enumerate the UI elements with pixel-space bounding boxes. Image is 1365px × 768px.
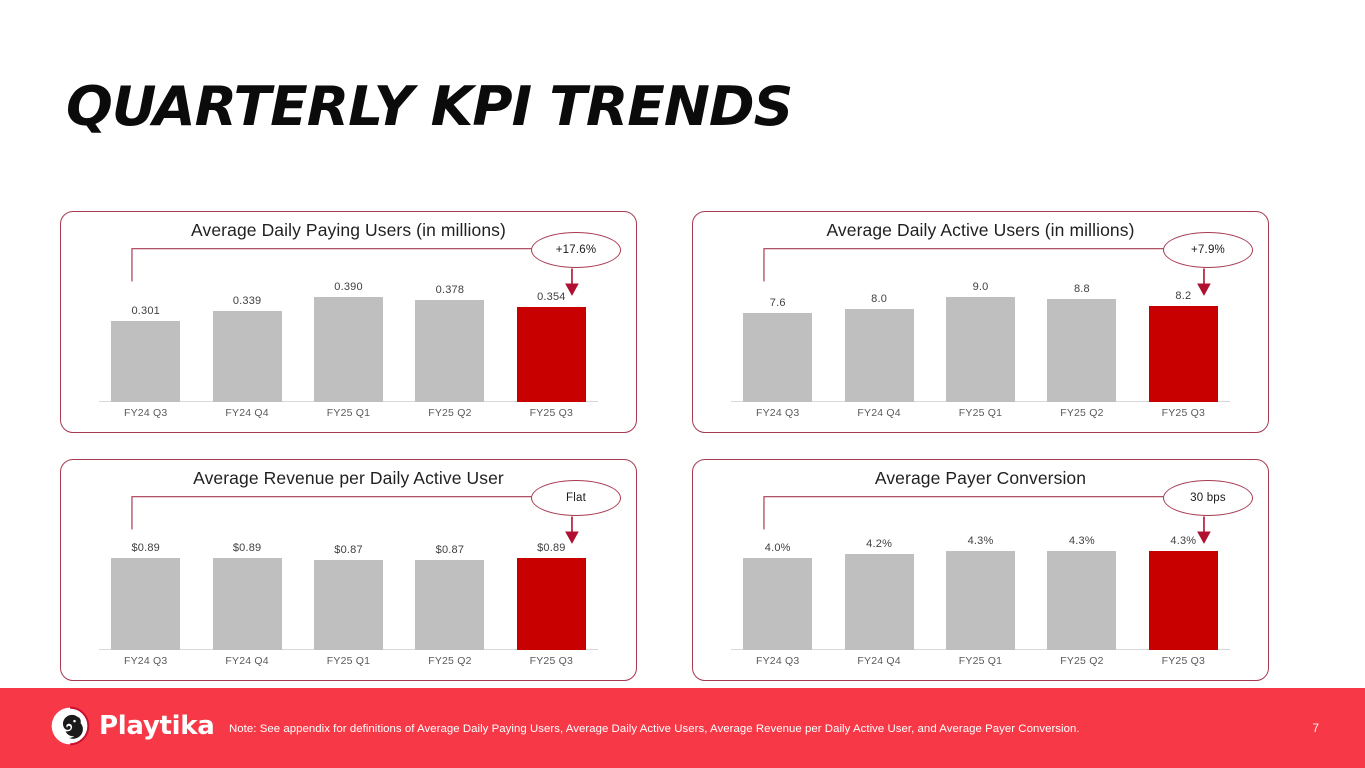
bar-value-label: 8.0 [871,293,887,305]
bar-item[interactable]: $0.89 [501,512,602,650]
bar-highlighted[interactable] [517,307,586,402]
bar-item[interactable]: $0.89 [95,512,196,650]
bar-item[interactable]: 4.0% [727,512,828,650]
plot-area: 4.0%4.2%4.3%4.3%4.3% [727,512,1234,650]
category-axis-labels: FY24 Q3FY24 Q4FY25 Q1FY25 Q2FY25 Q3 [95,407,602,423]
category-label: FY24 Q4 [196,655,297,671]
bar-item[interactable]: 8.2 [1133,264,1234,402]
bar-highlighted[interactable] [1149,551,1218,650]
category-label: FY25 Q2 [1031,407,1132,423]
bar-item[interactable]: 0.301 [95,264,196,402]
category-label: FY24 Q3 [95,407,196,423]
bar-item[interactable]: 0.354 [501,264,602,402]
bar-item[interactable]: 8.8 [1031,264,1132,402]
bar-value-label: 9.0 [973,281,989,293]
bar[interactable] [213,558,282,650]
bar-value-label: 0.390 [334,281,363,293]
bar-highlighted[interactable] [517,558,586,650]
bar[interactable] [845,309,914,402]
bar[interactable] [314,297,383,402]
bar-value-label: $0.89 [537,542,566,554]
callout-badge: +7.9% [1163,232,1253,268]
bar-item[interactable]: $0.89 [196,512,297,650]
category-label: FY24 Q3 [727,407,828,423]
category-label: FY25 Q1 [298,407,399,423]
plot-area: 0.3010.3390.3900.3780.354 [95,264,602,402]
category-label: FY24 Q4 [828,655,929,671]
category-label: FY25 Q3 [501,407,602,423]
bar[interactable] [845,554,914,650]
brand-logo: Playtika [50,706,214,746]
plot-area: $0.89$0.89$0.87$0.87$0.89 [95,512,602,650]
bar-value-label: 4.3% [968,535,994,547]
bar-value-label: 7.6 [770,297,786,309]
bar-value-label: $0.87 [334,544,363,556]
bar-item[interactable]: 0.390 [298,264,399,402]
bar-item[interactable]: 0.339 [196,264,297,402]
bar[interactable] [111,321,180,402]
category-label: FY25 Q2 [399,655,500,671]
callout-badge: 30 bps [1163,480,1253,516]
bar-value-label: $0.87 [436,544,465,556]
bar-item[interactable]: 4.2% [828,512,929,650]
bar-group: 0.3010.3390.3900.3780.354 [95,264,602,402]
bar-item[interactable]: $0.87 [399,512,500,650]
bar[interactable] [743,558,812,650]
chart-panel-avg-daily-paying-users: Average Daily Paying Users (in millions)… [60,211,637,433]
bar-highlighted[interactable] [1149,306,1218,402]
chart-panel-avg-revenue-per-dau: Average Revenue per Daily Active User$0.… [60,459,637,681]
bar-value-label: 0.378 [436,284,465,296]
bar-value-label: 0.354 [537,291,566,303]
footnote-text: Note: See appendix for definitions of Av… [229,722,1149,737]
plot-area: 7.68.09.08.88.2 [727,264,1234,402]
bar-item[interactable]: 8.0 [828,264,929,402]
category-label: FY25 Q2 [399,407,500,423]
playtika-panther-icon [50,706,90,746]
bar-value-label: 0.339 [233,295,262,307]
bar[interactable] [111,558,180,650]
bar-value-label: 8.2 [1175,290,1191,302]
category-label: FY25 Q1 [298,655,399,671]
bar-value-label: 4.3% [1170,535,1196,547]
bar[interactable] [415,560,484,650]
callout-badge: +17.6% [531,232,621,268]
bar[interactable] [213,311,282,402]
category-label: FY25 Q3 [1133,407,1234,423]
bar-value-label: $0.89 [233,542,262,554]
bar-value-label: 4.2% [866,538,892,550]
category-label: FY25 Q2 [1031,655,1132,671]
bar-item[interactable]: 4.3% [930,512,1031,650]
bar-group: 7.68.09.08.88.2 [727,264,1234,402]
category-label: FY25 Q3 [1133,655,1234,671]
page-title: QUARTERLY KPI TRENDS [66,80,792,134]
bar-value-label: 4.0% [765,542,791,554]
brand-wordmark: Playtika [99,713,214,739]
callout-badge: Flat [531,480,621,516]
bar-group: $0.89$0.89$0.87$0.87$0.89 [95,512,602,650]
bar[interactable] [1047,551,1116,650]
category-label: FY24 Q3 [727,655,828,671]
bar[interactable] [314,560,383,650]
bar[interactable] [415,300,484,402]
chart-panel-avg-daily-active-users: Average Daily Active Users (in millions)… [692,211,1269,433]
bar-group: 4.0%4.2%4.3%4.3%4.3% [727,512,1234,650]
category-axis-labels: FY24 Q3FY24 Q4FY25 Q1FY25 Q2FY25 Q3 [727,407,1234,423]
category-label: FY25 Q3 [501,655,602,671]
bar-item[interactable]: 0.378 [399,264,500,402]
bar[interactable] [946,551,1015,650]
category-label: FY25 Q1 [930,407,1031,423]
bar-item[interactable]: 9.0 [930,264,1031,402]
chart-panel-avg-payer-conversion: Average Payer Conversion4.0%4.2%4.3%4.3%… [692,459,1269,681]
category-label: FY24 Q3 [95,655,196,671]
category-label: FY24 Q4 [196,407,297,423]
bar[interactable] [1047,299,1116,402]
bar-item[interactable]: 4.3% [1031,512,1132,650]
category-label: FY24 Q4 [828,407,929,423]
bar[interactable] [946,297,1015,402]
bar-item[interactable]: $0.87 [298,512,399,650]
bar-item[interactable]: 7.6 [727,264,828,402]
category-axis-labels: FY24 Q3FY24 Q4FY25 Q1FY25 Q2FY25 Q3 [727,655,1234,671]
bar-value-label: $0.89 [131,542,160,554]
bar-item[interactable]: 4.3% [1133,512,1234,650]
bar-value-label: 4.3% [1069,535,1095,547]
bar-value-label: 0.301 [131,305,160,317]
category-label: FY25 Q1 [930,655,1031,671]
bar-value-label: 8.8 [1074,283,1090,295]
page-number: 7 [1312,721,1319,735]
category-axis-labels: FY24 Q3FY24 Q4FY25 Q1FY25 Q2FY25 Q3 [95,655,602,671]
bar[interactable] [743,313,812,402]
